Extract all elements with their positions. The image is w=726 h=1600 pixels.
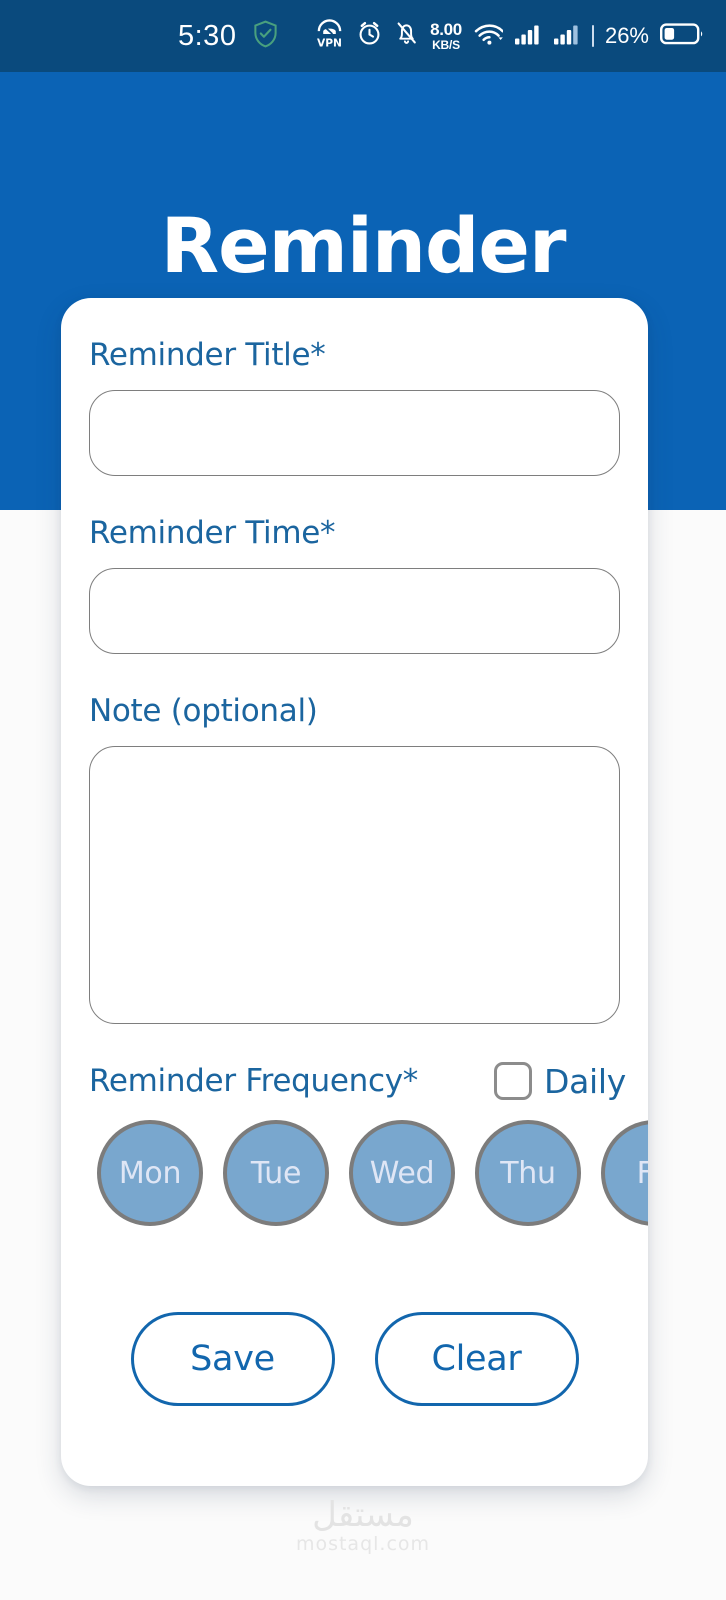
status-bar: 5:30 VPN: [0, 0, 726, 72]
reminder-frequency-row: Reminder Frequency* Daily: [89, 1062, 620, 1100]
status-bar-left: 5:30: [178, 19, 279, 54]
weekday-circle-tue[interactable]: Tue: [223, 1120, 329, 1226]
page-title: Reminder: [0, 208, 726, 284]
weekday-circle-thu[interactable]: Thu: [475, 1120, 581, 1226]
vpn-icon: VPN: [314, 18, 345, 55]
status-divider: [592, 25, 594, 47]
alarm-clock-icon: [356, 20, 383, 52]
reminder-time-label: Reminder Time*: [89, 518, 620, 549]
network-speed-value: 8.00: [430, 21, 462, 38]
network-speed-indicator: 8.00 KB/S: [430, 21, 462, 51]
wifi-icon: [473, 21, 503, 52]
network-speed-unit: KB/S: [432, 39, 460, 51]
weekday-circle-wed[interactable]: Wed: [349, 1120, 455, 1226]
status-bar-clock: 5:30: [178, 22, 236, 51]
reminder-title-input[interactable]: [89, 390, 620, 476]
weekday-circle-mon[interactable]: Mon: [97, 1120, 203, 1226]
reminder-note-textarea[interactable]: [89, 746, 620, 1024]
battery-percent-label: 26%: [605, 23, 649, 49]
daily-checkbox[interactable]: [494, 1062, 532, 1100]
daily-checkbox-label: Daily: [544, 1065, 626, 1098]
phone-screen: 5:30 VPN: [0, 0, 726, 1600]
form-action-row: Save Clear: [89, 1312, 620, 1406]
reminder-title-label: Reminder Title*: [89, 340, 620, 371]
status-bar-right: VPN 8.0: [314, 0, 704, 72]
cellular-signal-icon: [553, 22, 581, 51]
weekday-selector[interactable]: MonTueWedThuFri: [61, 1120, 648, 1226]
daily-toggle[interactable]: Daily: [494, 1062, 626, 1100]
reminder-frequency-label: Reminder Frequency*: [89, 1066, 418, 1097]
shield-check-icon: [252, 19, 279, 54]
reminder-note-label: Note (optional): [89, 696, 620, 727]
weekday-circle-fri[interactable]: Fri: [601, 1120, 648, 1226]
svg-text:VPN: VPN: [317, 36, 342, 49]
clear-button[interactable]: Clear: [375, 1312, 579, 1406]
battery-icon: [660, 21, 704, 52]
mostaql-watermark: مستقل mostaql.com: [0, 1498, 726, 1554]
watermark-arabic-text: مستقل: [0, 1498, 726, 1532]
bell-muted-icon: [394, 20, 419, 52]
save-button[interactable]: Save: [131, 1312, 335, 1406]
reminder-form-card: Reminder Title* Reminder Time* Note (opt…: [61, 298, 648, 1486]
watermark-latin-text: mostaql.com: [0, 1535, 726, 1554]
reminder-time-input[interactable]: [89, 568, 620, 654]
cellular-signal-icon: [514, 22, 542, 51]
